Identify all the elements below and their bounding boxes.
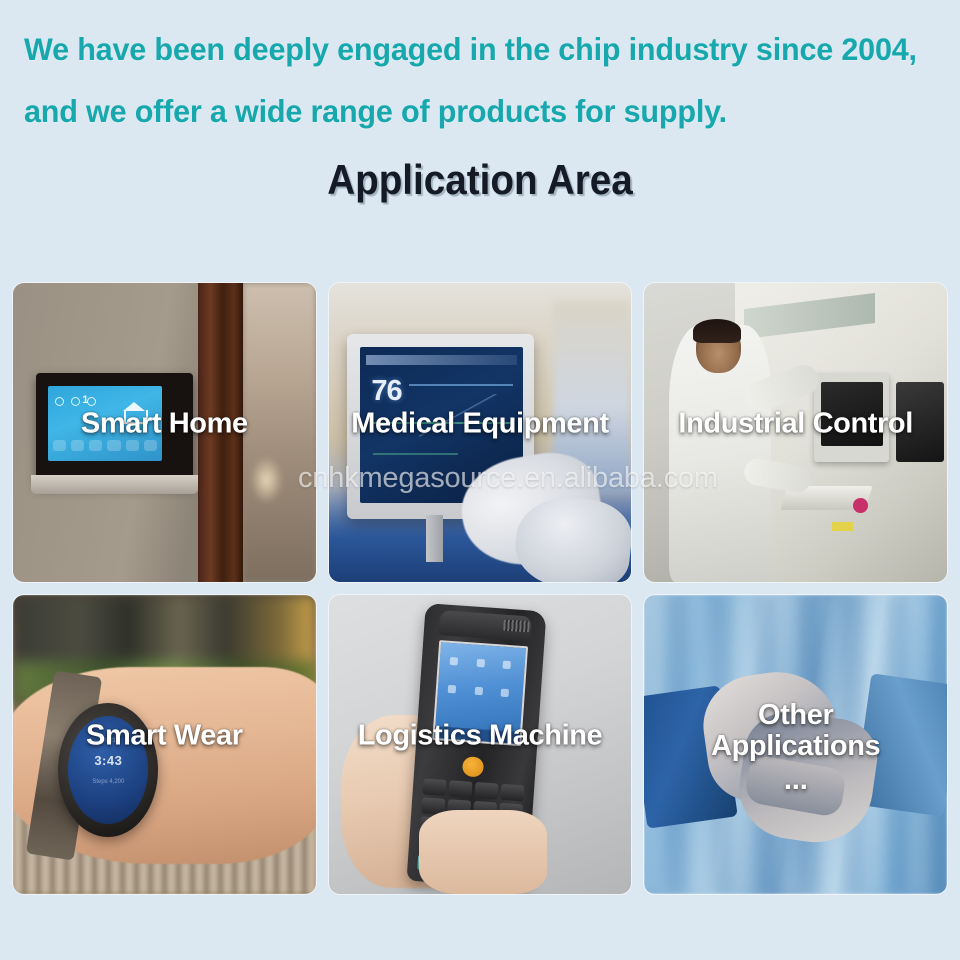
tile-caption: Other Applications ... <box>644 700 947 797</box>
navigation-button <box>463 756 485 777</box>
tile-industrial-control[interactable]: Industrial Control <box>644 283 947 582</box>
tile-caption: Smart Wear <box>13 720 316 751</box>
tile-smart-home[interactable]: 1 Smart Home <box>13 283 316 582</box>
tile-other-applications[interactable]: Other Applications ... <box>644 595 947 894</box>
headline-block: We have been deeply engaged in the chip … <box>0 0 960 142</box>
tile-caption-line-3: ... <box>644 764 947 796</box>
tile-caption: Industrial Control <box>644 408 947 439</box>
application-area-grid: 1 Smart Home 76 <box>13 283 947 894</box>
tile-logistics-machine[interactable]: Logistics Machine <box>329 595 632 894</box>
tile-medical-equipment[interactable]: 76 Medical Equipment <box>329 283 632 582</box>
tile-smart-wear[interactable]: Fri 21 3:43 Steps 4,200 Smart Wear <box>13 595 316 894</box>
headline-line-2: and we offer a wide range of products fo… <box>24 80 909 142</box>
tile-caption: Medical Equipment <box>329 408 632 439</box>
monitor-value: 76 <box>371 375 401 408</box>
tile-caption-line-1: Other <box>758 699 833 731</box>
watch-time: 3:43 <box>94 753 122 768</box>
headline-line-1: We have been deeply engaged in the chip … <box>24 18 909 80</box>
tile-caption-line-2: Applications <box>644 731 947 762</box>
tile-caption: Logistics Machine <box>329 720 632 751</box>
tile-caption: Smart Home <box>13 408 316 439</box>
watch-sub-bottom: Steps 4,200 <box>92 779 124 785</box>
page-title: Application Area <box>38 156 921 204</box>
